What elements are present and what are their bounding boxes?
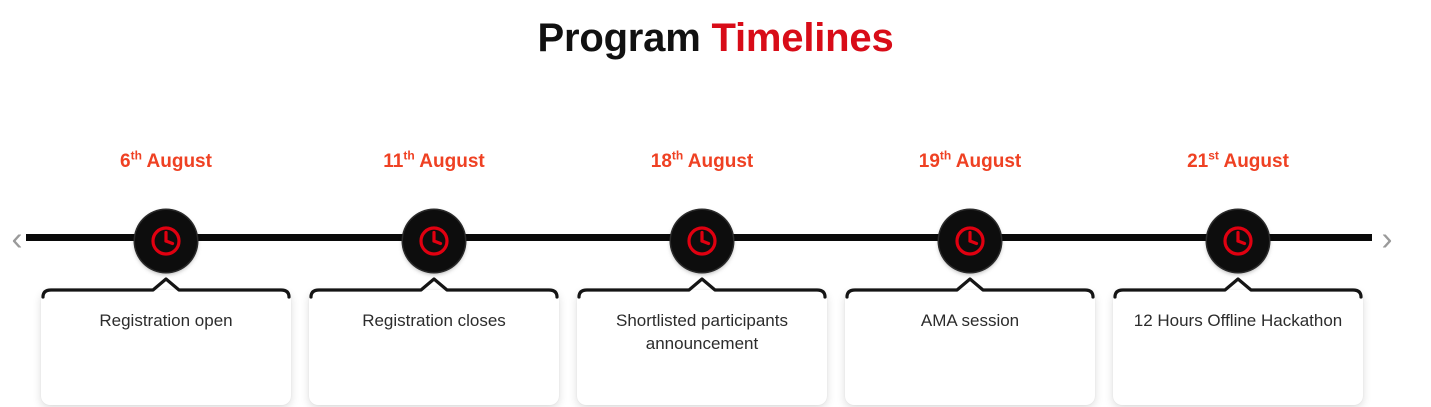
timeline-stop: 19th AugustAMA session xyxy=(841,140,1099,407)
timeline-stop-label: Registration closes xyxy=(323,309,545,332)
program-timelines-page: Program Timelines ‹ › 6th AugustRegistra… xyxy=(0,0,1431,407)
timeline-stop-month: August xyxy=(419,151,484,172)
timeline-stop-month: August xyxy=(688,151,753,172)
timeline-stop-day: 18 xyxy=(651,151,672,172)
timeline-stop-card[interactable]: 12 Hours Offline Hackathon xyxy=(1113,290,1363,405)
timeline-stop-marker[interactable] xyxy=(1207,210,1269,272)
clock-icon xyxy=(417,224,451,258)
timeline-stop-date: 19th August xyxy=(841,151,1099,173)
clock-icon xyxy=(1221,224,1255,258)
timeline-stop-ordinal: th xyxy=(403,149,414,163)
timeline-stop-card[interactable]: AMA session xyxy=(845,290,1095,405)
timeline-stop-marker[interactable] xyxy=(939,210,1001,272)
card-notch-icon xyxy=(1113,277,1363,299)
chevron-right-icon[interactable]: › xyxy=(1372,221,1402,259)
timeline-stop-marker[interactable] xyxy=(403,210,465,272)
timeline-stop: 18th AugustShortlisted participants anno… xyxy=(573,140,831,407)
timeline-stop-date: 11th August xyxy=(305,151,563,173)
timeline-stop-ordinal: st xyxy=(1208,149,1219,163)
card-notch-icon xyxy=(309,277,559,299)
timeline-stop-month: August xyxy=(956,151,1021,172)
clock-icon xyxy=(149,224,183,258)
card-notch-icon xyxy=(577,277,827,299)
timeline-stop-month: August xyxy=(147,151,212,172)
timeline-stop-label: 12 Hours Offline Hackathon xyxy=(1127,309,1349,332)
clock-icon xyxy=(685,224,719,258)
timeline-stop-day: 6 xyxy=(120,151,131,172)
timeline-stop: 6th AugustRegistration open xyxy=(37,140,295,407)
timeline-stop-label: AMA session xyxy=(859,309,1081,332)
timeline-stop-ordinal: th xyxy=(131,149,142,163)
timeline-stop-date: 6th August xyxy=(37,151,295,173)
card-notch-icon xyxy=(845,277,1095,299)
timeline-stop-date: 18th August xyxy=(573,151,831,173)
timeline-stop-card[interactable]: Registration closes xyxy=(309,290,559,405)
timeline-stop-day: 19 xyxy=(919,151,940,172)
timeline-stop-day: 21 xyxy=(1187,151,1208,172)
timeline-stop-label: Registration open xyxy=(55,309,277,332)
timeline-stop-marker[interactable] xyxy=(135,210,197,272)
timeline-stops: 6th AugustRegistration open11th AugustRe… xyxy=(37,140,1367,407)
timeline-stop-month: August xyxy=(1223,151,1288,172)
page-title: Program Timelines xyxy=(0,14,1431,62)
timeline-stop-day: 11 xyxy=(383,151,403,172)
timeline-stop: 21st August12 Hours Offline Hackathon xyxy=(1109,140,1367,407)
timeline-stop-card[interactable]: Shortlisted participants announcement xyxy=(577,290,827,405)
card-notch-icon xyxy=(41,277,291,299)
clock-icon xyxy=(953,224,987,258)
timeline-stop-ordinal: th xyxy=(672,149,683,163)
timeline-stop-marker[interactable] xyxy=(671,210,733,272)
timeline-stop-label: Shortlisted participants announcement xyxy=(591,309,813,355)
timeline-stop-date: 21st August xyxy=(1109,151,1367,173)
timeline-stop-card[interactable]: Registration open xyxy=(41,290,291,405)
page-title-primary: Program xyxy=(537,16,700,60)
timeline-stop: 11th AugustRegistration closes xyxy=(305,140,563,407)
page-title-accent: Timelines xyxy=(712,16,894,60)
timeline-stop-ordinal: th xyxy=(940,149,951,163)
